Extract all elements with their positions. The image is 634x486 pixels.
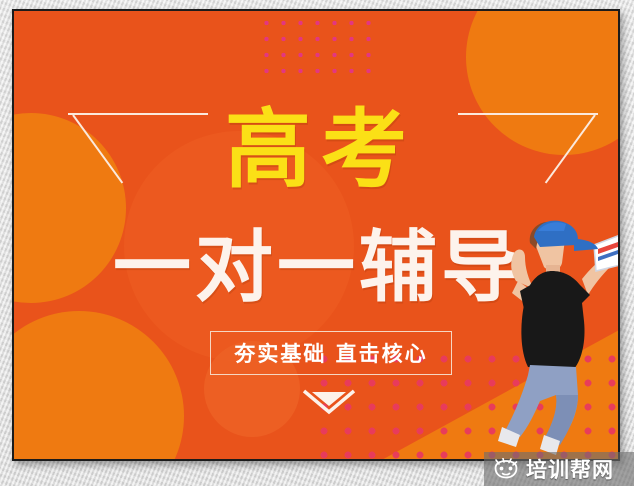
tagline-box: 夯实基础 直击核心	[210, 331, 452, 375]
chevron-down-icon	[302, 389, 356, 415]
sun-face-icon	[493, 458, 519, 480]
poster-frame: 高考 一对一辅导 夯实基础 直击核心	[12, 9, 620, 461]
jumping-student-illustration	[490, 209, 618, 459]
watermark: 培训帮网	[484, 452, 634, 486]
decor-circle-bottom-left	[14, 311, 184, 459]
watermark-text: 培训帮网	[526, 454, 614, 484]
dot-grid-top-icon	[258, 15, 382, 77]
tagline-text: 夯实基础 直击核心	[234, 338, 427, 368]
poster-canvas: 高考 一对一辅导 夯实基础 直击核心	[14, 11, 618, 459]
page-title: 高考	[14, 107, 618, 193]
banner-page: 高考 一对一辅导 夯实基础 直击核心	[0, 0, 634, 486]
